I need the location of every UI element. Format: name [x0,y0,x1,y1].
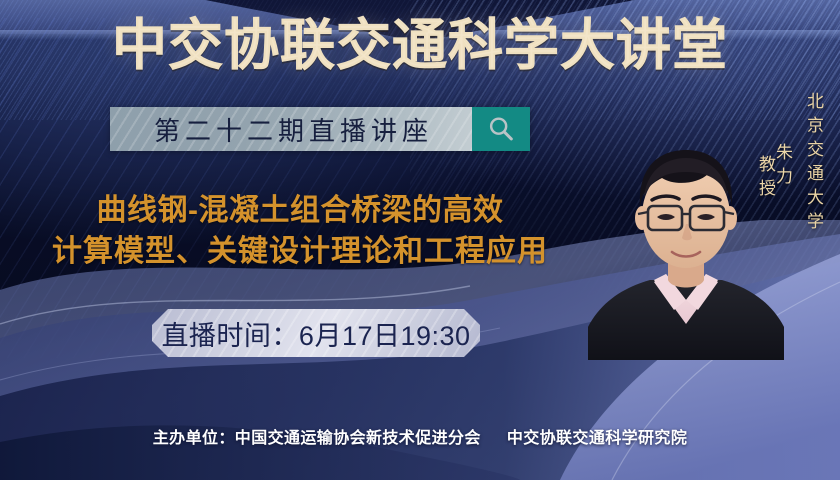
webinar-poster: 中交协联交通科学大讲堂 第二十二期直播讲座 曲线钢-混凝土组合桥梁的高效 计算模… [0,0,840,480]
search-icon-button[interactable] [472,107,530,151]
footer-prefix: 主办单位： [153,430,235,447]
speaker-portrait [588,128,784,360]
lecture-title: 曲线钢-混凝土组合桥梁的高效 计算模型、关键设计理论和工程应用 [0,190,600,272]
broadcast-time-text: 直播时间：6月17日19:30 [161,314,470,353]
poster-headline: 中交协联交通科学大讲堂 [0,14,840,76]
speaker-name: 朱力 [774,143,791,191]
subtitle-bar-label: 第二十二期直播讲座 [149,111,433,148]
subtitle-bar-label-wrap: 第二十二期直播讲座 [110,107,472,151]
search-icon [486,114,516,144]
speaker-info: 朱力 教授 北京交通大学 [757,92,822,242]
speaker-organization: 北京交通大学 [805,92,822,242]
lecture-title-line-1: 曲线钢-混凝土组合桥梁的高效 [0,190,600,231]
speaker-name-block: 朱力 教授 [757,92,791,242]
footer-organizers: 主办单位：中国交通运输协会新技术促进分会中交协联交通科学研究院 [0,424,840,448]
broadcast-time-badge: 直播时间：6月17日19:30 [152,309,480,357]
footer-org-1: 中国交通运输协会新技术促进分会 [235,430,481,447]
footer-org-2: 中交协联交通科学研究院 [507,430,687,447]
lecture-title-line-2: 计算模型、关键设计理论和工程应用 [0,231,600,272]
speaker-title: 教授 [757,155,774,203]
subtitle-bar[interactable]: 第二十二期直播讲座 [110,107,530,151]
